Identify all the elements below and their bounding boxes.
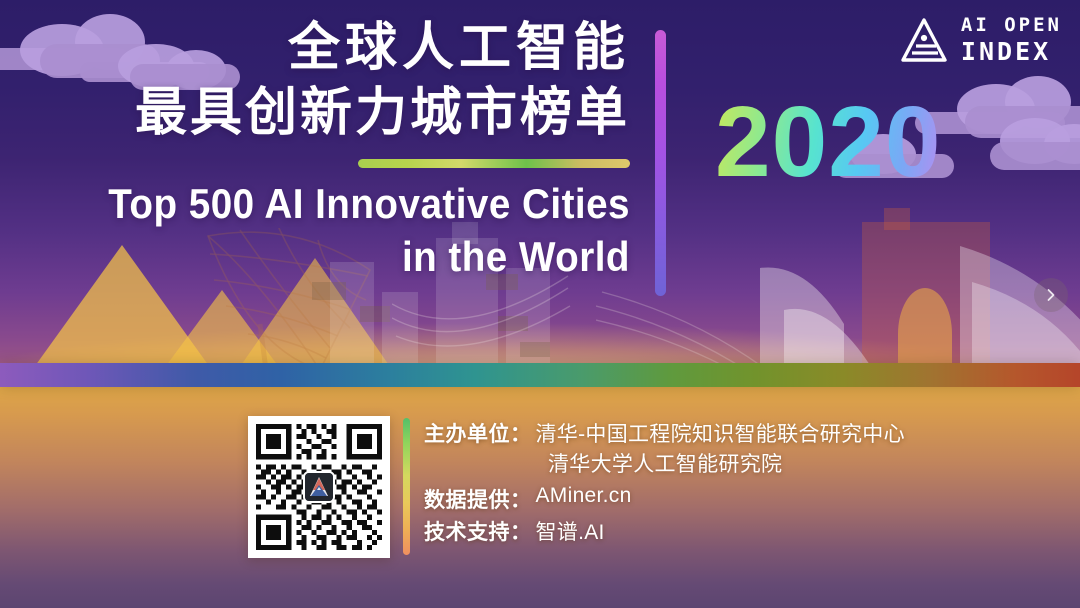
info-value-organizer: 清华-中国工程院知识智能联合研究中心 bbox=[536, 418, 905, 448]
info-key-organizer: 主办单位： bbox=[424, 418, 532, 448]
title-block: 全球人工智能 最具创新力城市榜单 Top 500 AI Innovative C… bbox=[60, 10, 630, 284]
chevron-right-icon bbox=[1043, 287, 1059, 303]
rainbow-divider-band bbox=[0, 363, 1080, 387]
title-cn-line-1: 全球人工智能 bbox=[60, 18, 630, 79]
info-row-organizer-2: 清华大学人工智能研究院 bbox=[424, 448, 905, 478]
info-accent-bar bbox=[403, 418, 410, 555]
footer-info: 主办单位： 清华-中国工程院知识智能联合研究中心 清华大学人工智能研究院 数据提… bbox=[424, 418, 905, 548]
qr-center-logo-icon bbox=[303, 471, 335, 503]
info-row-tech: 技术支持： 智谱.AI bbox=[424, 516, 905, 546]
info-row-data: 数据提供： AMiner.cn bbox=[424, 484, 905, 514]
info-row-organizer: 主办单位： 清华-中国工程院知识智能联合研究中心 bbox=[424, 418, 905, 448]
title-en-line-1: Top 500 AI Innovative Cities bbox=[106, 178, 630, 229]
info-value-organizer-2: 清华大学人工智能研究院 bbox=[424, 448, 782, 478]
poster-slide: AI OPEN INDEX 全球人工智能 最具创新力城市榜单 Top 500 A… bbox=[0, 0, 1080, 608]
ai-open-index-logo: AI OPEN INDEX bbox=[900, 16, 1062, 64]
title-underline-bar bbox=[358, 159, 630, 168]
logo-line-2: INDEX bbox=[961, 39, 1062, 64]
vertical-divider-bar bbox=[655, 30, 666, 296]
year-label: 2020 bbox=[715, 92, 941, 192]
logo-line-1: AI OPEN bbox=[961, 16, 1062, 35]
info-value-data: AMiner.cn bbox=[536, 484, 632, 508]
logo-wordmark: AI OPEN INDEX bbox=[961, 16, 1062, 64]
title-en-line-2: in the World bbox=[106, 231, 630, 282]
qr-code[interactable] bbox=[248, 416, 390, 558]
building-detail-1 bbox=[312, 282, 346, 300]
qr-code-canvas bbox=[256, 424, 382, 550]
next-slide-button[interactable] bbox=[1034, 278, 1068, 312]
title-cn-line-2: 最具创新力城市榜单 bbox=[60, 83, 630, 144]
info-key-tech: 技术支持： bbox=[424, 516, 532, 546]
triangle-a-icon bbox=[900, 16, 948, 64]
opera-house-silhouette bbox=[760, 232, 900, 380]
title-en-block: Top 500 AI Innovative Cities in the Worl… bbox=[106, 178, 630, 282]
info-key-data: 数据提供： bbox=[424, 484, 532, 514]
info-value-tech: 智谱.AI bbox=[536, 516, 605, 546]
arch-top-block bbox=[884, 208, 910, 230]
opera-house-silhouette-2 bbox=[958, 238, 1080, 380]
